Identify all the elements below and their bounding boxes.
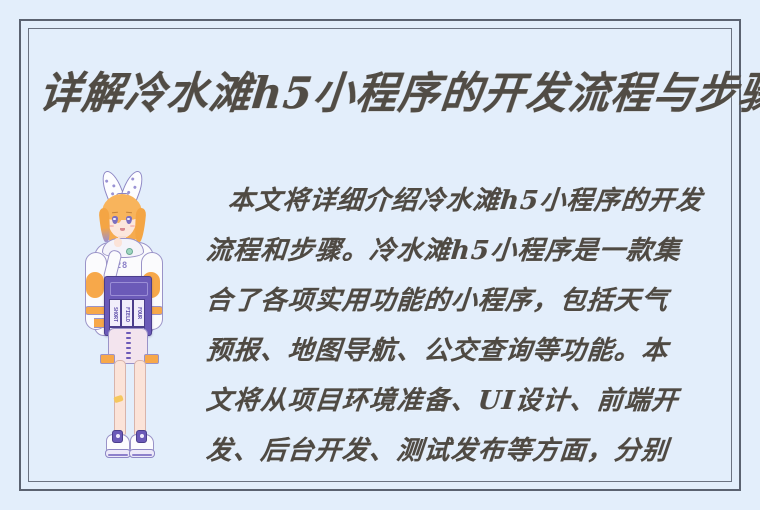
sidelock-right — [134, 208, 147, 243]
belt-tab-right — [144, 354, 159, 364]
body-line: 文将从项目环境准备、UI设计、前端开 — [206, 376, 724, 426]
held-tablet-board: SHORT FIELD FOUR — [104, 276, 152, 336]
body-line: 合了各项实用功能的小程序，包括天气 — [206, 276, 724, 326]
sneaker-left — [106, 430, 128, 456]
poster-canvas: 详解冷水滩h5小程序的开发流程与步骤 本文将详细介绍冷水滩h5小程序的开发 流程… — [0, 0, 760, 510]
page-title-text: 详解冷水滩h5小程序的开发流程与步骤 — [37, 57, 760, 121]
body-line: 本文将详细介绍冷水滩h5小程序的开发 — [206, 176, 724, 226]
mouth — [120, 228, 125, 231]
belt-tab-left — [100, 354, 115, 364]
body-line: 流程和步骤。冷水滩h5小程序是一款集 — [206, 226, 724, 276]
board-label-strip: FIELD — [121, 299, 133, 327]
character-illustration: 428 SHORT FIELD FOUR — [78, 168, 186, 480]
board-label-strip: SHORT — [109, 299, 121, 327]
board-label-strip: FOUR — [133, 299, 145, 327]
page-title: 详解冷水滩h5小程序的开发流程与步骤 — [40, 58, 730, 120]
leg-right — [134, 360, 146, 436]
sleeve-accent-left — [86, 272, 104, 298]
article-body: 本文将详细介绍冷水滩h5小程序的开发 流程和步骤。冷水滩h5小程序是一款集 合了… — [206, 176, 724, 476]
body-line: 预报、地图导航、公交查询等功能。本 — [206, 326, 724, 376]
body-line: 发、后台开发、测试发布等方面，分别 — [206, 426, 724, 476]
lace-detail — [126, 332, 131, 360]
sneaker-right — [130, 430, 152, 456]
hand — [114, 238, 122, 247]
